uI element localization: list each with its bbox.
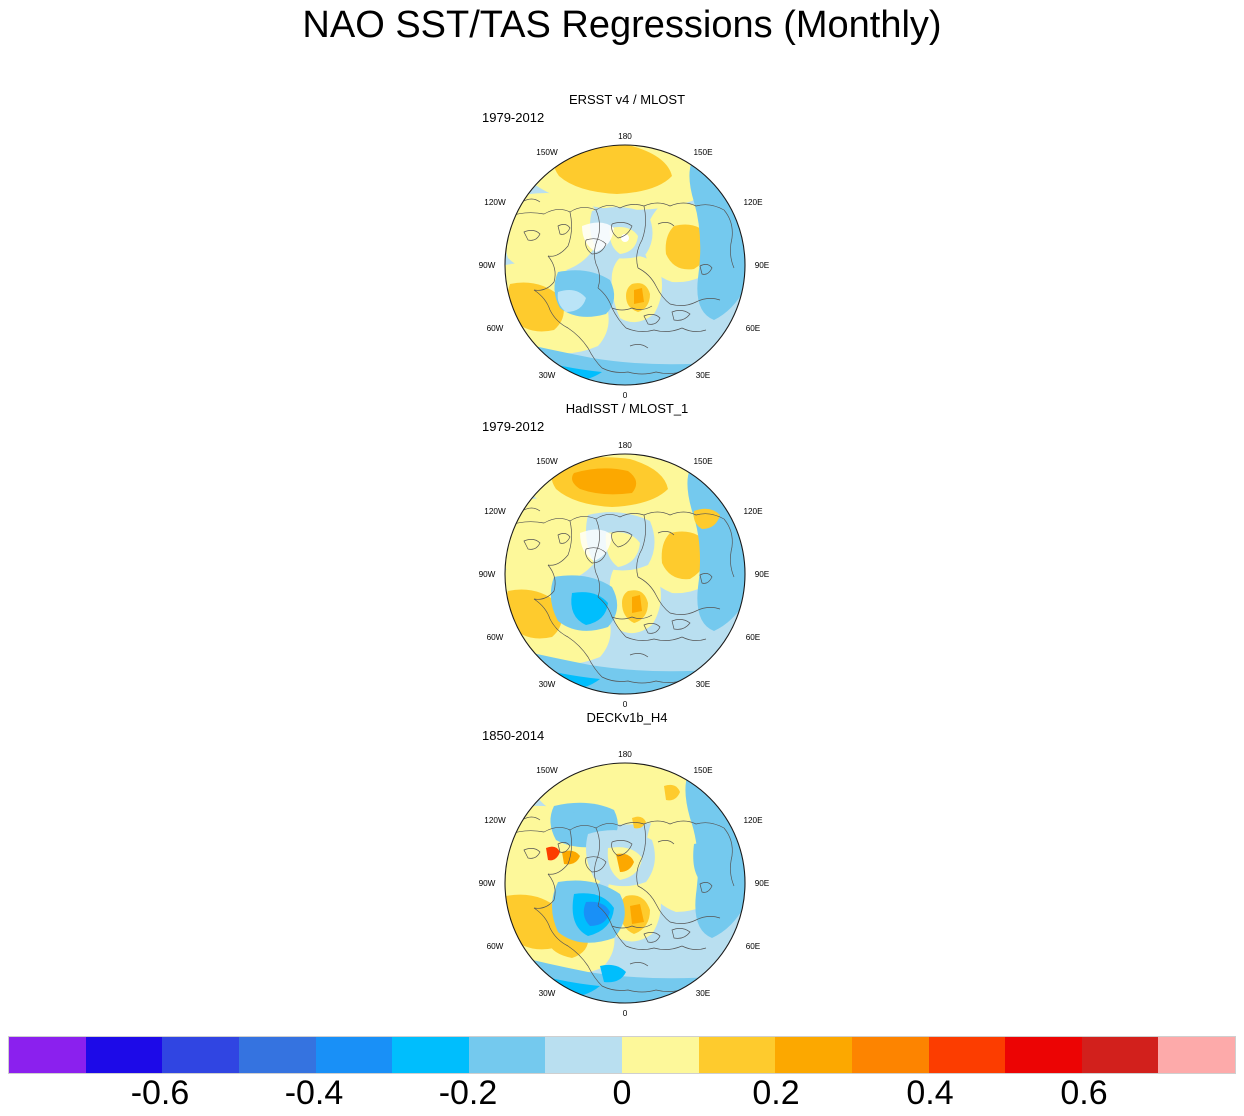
polar-map: 180 150E 120E 90E 60E 30E 0 30W 60W 90W … — [462, 724, 792, 1009]
colorbar-segment-0 — [9, 1037, 86, 1073]
lon-label-30E: 30E — [696, 989, 711, 998]
colorbar-tick-0.6: 0.6 — [1060, 1074, 1107, 1113]
lon-label-60W: 60W — [487, 324, 504, 333]
colorbar-tick--0.4: -0.4 — [285, 1074, 344, 1113]
lon-label-0: 0 — [623, 391, 628, 400]
colorbar-segment-11 — [852, 1037, 929, 1073]
colorbar-tick-0.4: 0.4 — [906, 1074, 953, 1113]
panel-title: ERSST v4 / MLOST — [462, 92, 792, 107]
map-field — [482, 135, 758, 406]
lon-label-90W: 90W — [479, 879, 496, 888]
colorbar-segment-2 — [162, 1037, 239, 1073]
lon-label-90E: 90E — [755, 879, 770, 888]
lon-label-180: 180 — [618, 750, 632, 759]
lon-label-60E: 60E — [746, 633, 761, 642]
map-svg: 180 150E 120E 90E 60E 30E 0 30W 60W 90W … — [462, 415, 792, 700]
colorbar — [8, 1036, 1236, 1074]
colorbar-tick-labels: -0.6-0.4-0.200.20.40.6 — [0, 1074, 1244, 1116]
lon-label-180: 180 — [618, 132, 632, 141]
polar-map: 180 150E 120E 90E 60E 30E 0 30W 60W 90W … — [462, 106, 792, 391]
lon-label-60W: 60W — [487, 633, 504, 642]
colorbar-segment-1 — [86, 1037, 163, 1073]
lon-label-60E: 60E — [746, 942, 761, 951]
colorbar-segment-7 — [545, 1037, 622, 1073]
lon-label-30W: 30W — [539, 371, 556, 380]
colorbar-tick-0: 0 — [613, 1074, 632, 1113]
lon-label-90W: 90W — [479, 261, 496, 270]
colorbar-segment-8 — [622, 1037, 699, 1073]
lon-label-150E: 150E — [693, 148, 713, 157]
lon-label-30W: 30W — [539, 680, 556, 689]
colorbar-tick--0.6: -0.6 — [131, 1074, 190, 1113]
lon-label-150W: 150W — [536, 457, 558, 466]
lon-label-150W: 150W — [536, 148, 558, 157]
lon-label-90E: 90E — [755, 570, 770, 579]
colorbar-segment-14 — [1082, 1037, 1159, 1073]
lon-label-120W: 120W — [484, 198, 506, 207]
lon-label-180: 180 — [618, 441, 632, 450]
colorbar-tick-0.2: 0.2 — [752, 1074, 799, 1113]
figure-root: NAO SST/TAS Regressions (Monthly) ERSST … — [0, 0, 1244, 1116]
lon-label-150E: 150E — [693, 766, 713, 775]
map-svg: 180 150E 120E 90E 60E 30E 0 30W 60W 90W … — [462, 724, 792, 1009]
lon-label-30E: 30E — [696, 680, 711, 689]
colorbar-segment-3 — [239, 1037, 316, 1073]
colorbar-segment-12 — [929, 1037, 1006, 1073]
lon-label-120E: 120E — [743, 198, 763, 207]
figure-title: NAO SST/TAS Regressions (Monthly) — [0, 4, 1244, 47]
lon-label-30E: 30E — [696, 371, 711, 380]
lon-label-60E: 60E — [746, 324, 761, 333]
map-svg: 180 150E 120E 90E 60E 30E 0 30W 60W 90W … — [462, 106, 792, 391]
colorbar-segment-9 — [699, 1037, 776, 1073]
colorbar-segment-5 — [392, 1037, 469, 1073]
lon-label-0: 0 — [623, 700, 628, 709]
colorbar-segment-15 — [1158, 1037, 1235, 1073]
colorbar-tick--0.2: -0.2 — [439, 1074, 498, 1113]
lon-label-150E: 150E — [693, 457, 713, 466]
panel-title: DECKv1b_H4 — [462, 710, 792, 725]
lon-label-150W: 150W — [536, 766, 558, 775]
map-field — [478, 754, 757, 1024]
lon-label-120E: 120E — [743, 507, 763, 516]
lon-label-120W: 120W — [484, 507, 506, 516]
colorbar-segment-13 — [1005, 1037, 1082, 1073]
lon-label-30W: 30W — [539, 989, 556, 998]
colorbar-segment-10 — [775, 1037, 852, 1073]
lon-label-120E: 120E — [743, 816, 763, 825]
lon-label-0: 0 — [623, 1009, 628, 1018]
panel-title: HadISST / MLOST_1 — [462, 401, 792, 416]
lon-label-90W: 90W — [479, 570, 496, 579]
colorbar-segment-4 — [316, 1037, 393, 1073]
polar-map: 180 150E 120E 90E 60E 30E 0 30W 60W 90W … — [462, 415, 792, 700]
lon-label-90E: 90E — [755, 261, 770, 270]
map-field — [480, 444, 759, 715]
lon-label-120W: 120W — [484, 816, 506, 825]
lon-label-60W: 60W — [487, 942, 504, 951]
colorbar-segment-6 — [469, 1037, 546, 1073]
